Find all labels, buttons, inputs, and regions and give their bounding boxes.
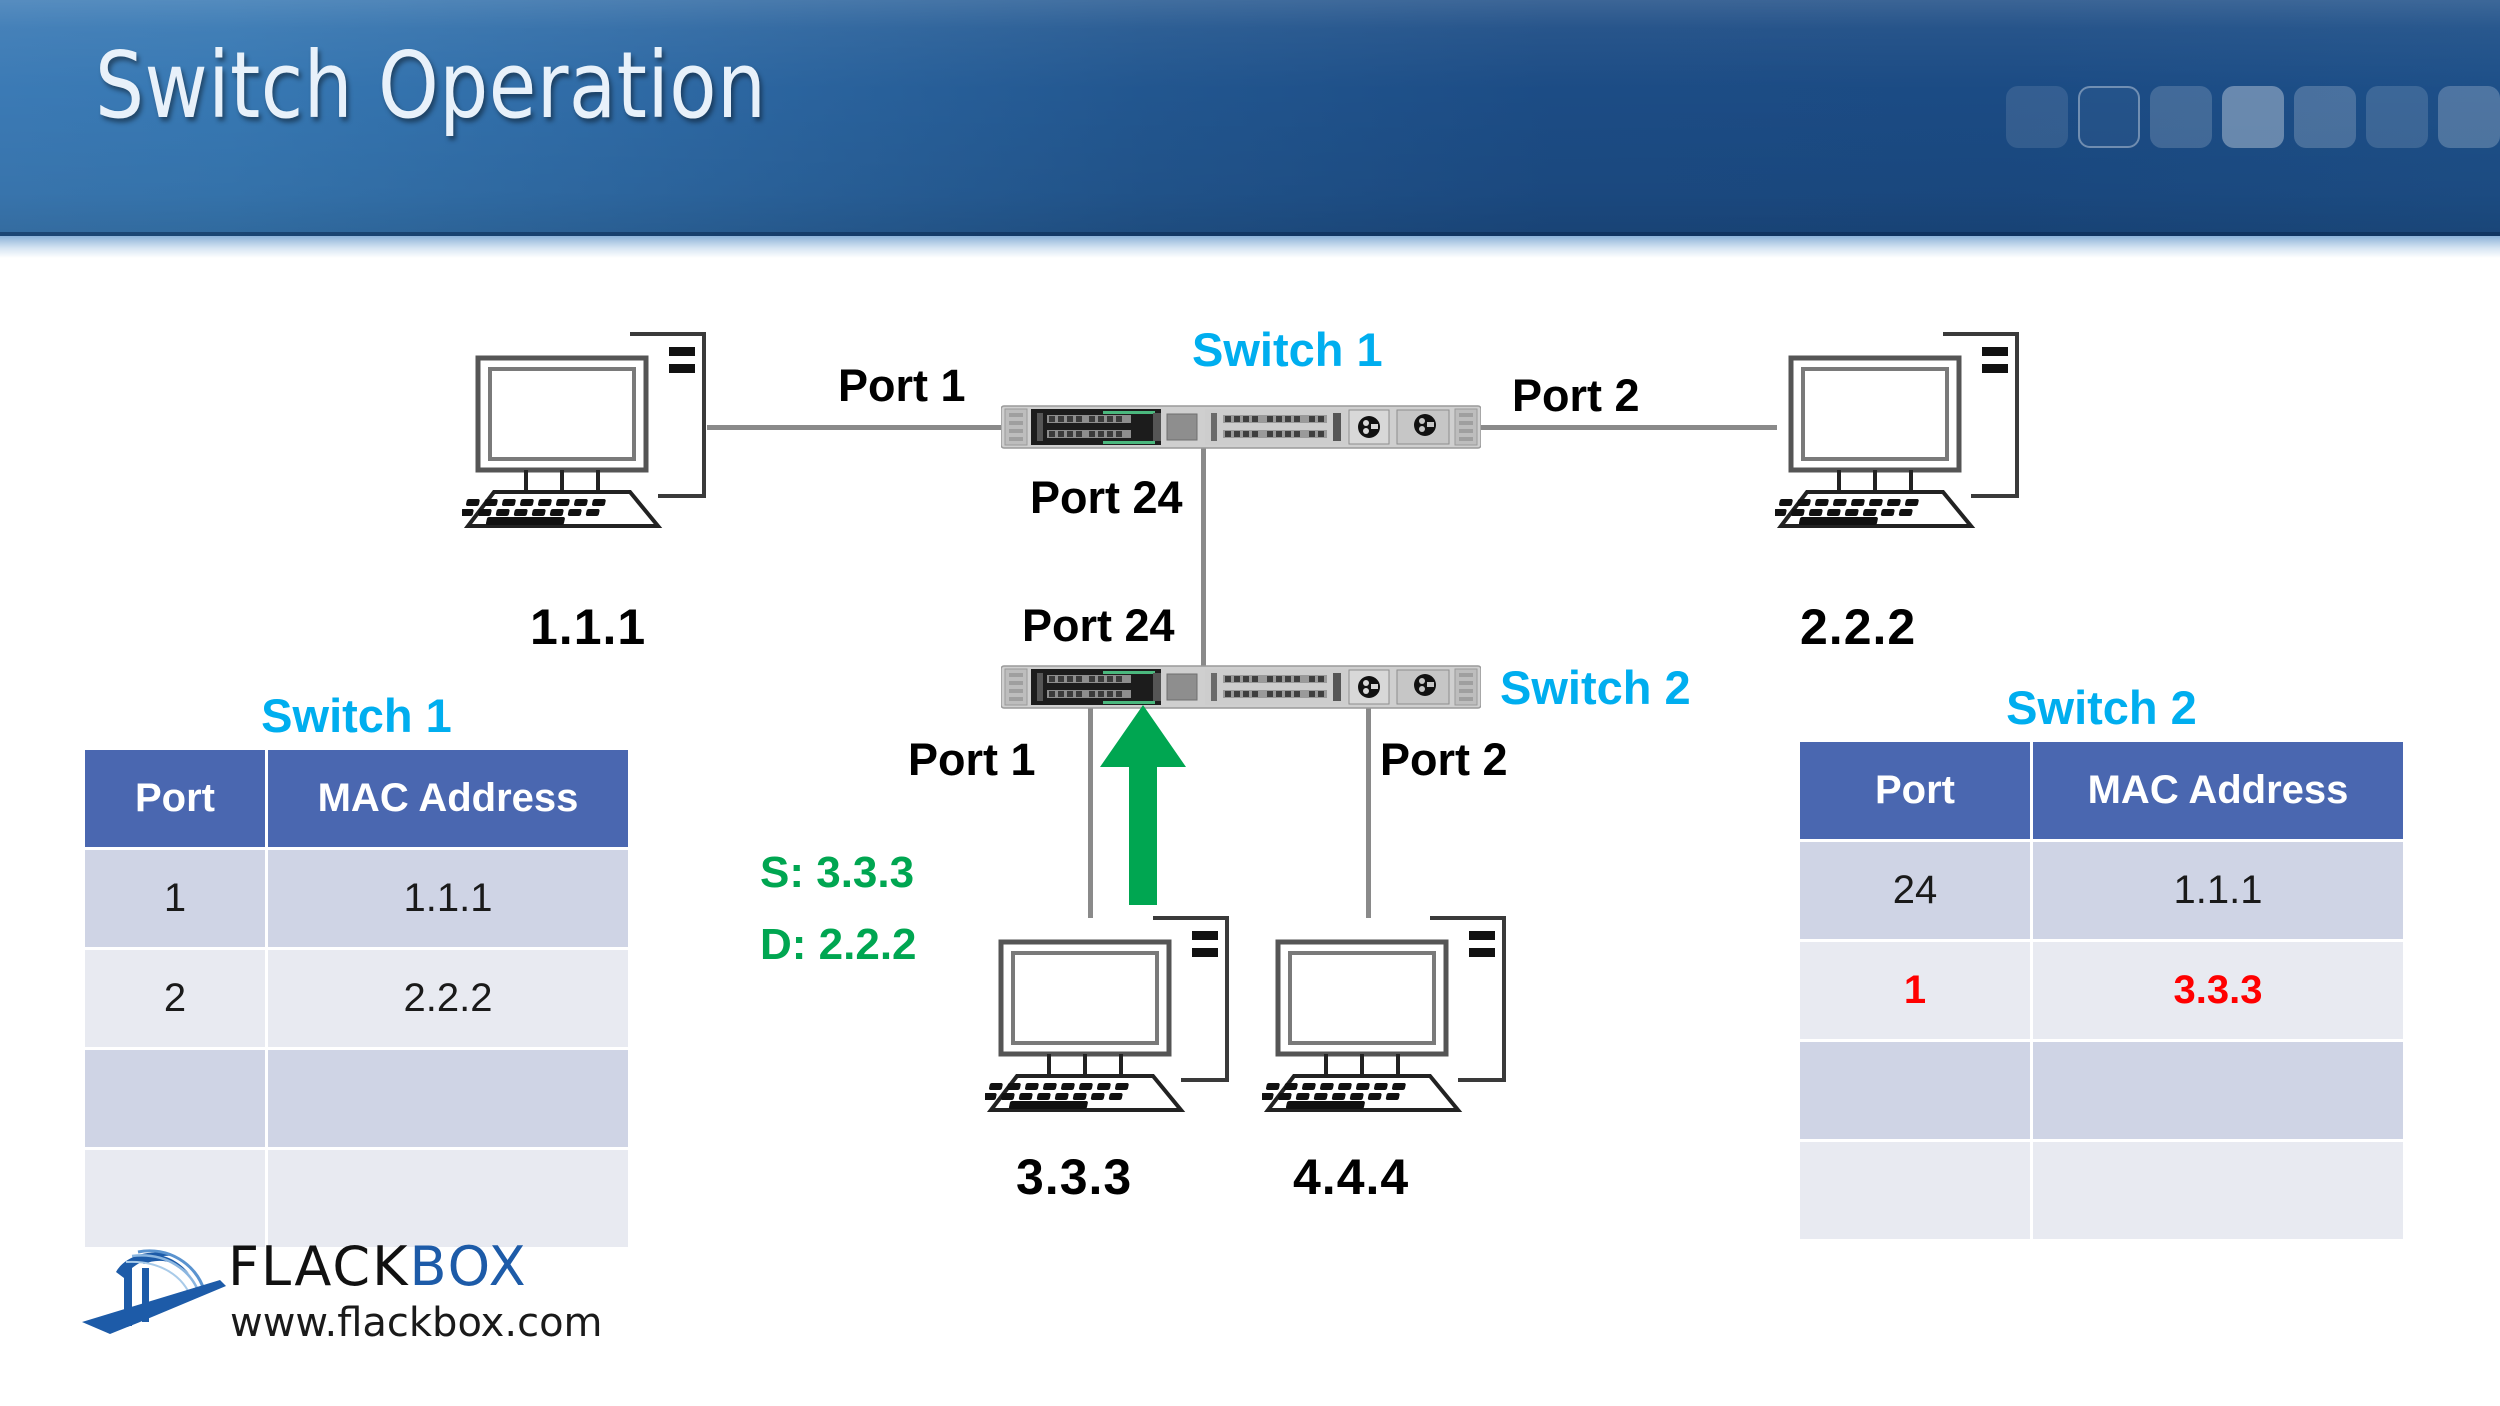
flackbox-bridge-icon bbox=[80, 1242, 240, 1338]
port-label-sw2-port1: Port 1 bbox=[908, 734, 1036, 786]
switch-label-1: Switch 1 bbox=[1192, 322, 1383, 377]
switch-device-2 bbox=[1001, 664, 1481, 710]
switch-2-mac-table: Switch 2 Port MAC Address 24 1.1.1 1 3.3… bbox=[1800, 742, 2403, 1239]
table-row-cell-port bbox=[85, 1150, 265, 1247]
host-label-333: 3.3.3 bbox=[1016, 1148, 1132, 1206]
switch-device-1 bbox=[1001, 404, 1481, 450]
host-pc-111 bbox=[462, 316, 727, 531]
column-header-mac: MAC Address bbox=[2033, 742, 2403, 839]
switch-1-mac-table: Switch 1 Port MAC Address 1 1.1.1 2 2.2.… bbox=[85, 750, 628, 1247]
frame-flow-arrow-up bbox=[1100, 705, 1186, 905]
table-row-cell-mac: 1.1.1 bbox=[2033, 842, 2403, 939]
link-switch1-host222 bbox=[1480, 425, 1777, 430]
host-label-111: 1.1.1 bbox=[530, 598, 646, 656]
switch-1-table-grid: Port MAC Address 1 1.1.1 2 2.2.2 bbox=[85, 750, 628, 1247]
switch-2-table-title: Switch 2 bbox=[1800, 680, 2403, 735]
host-label-222: 2.2.2 bbox=[1800, 598, 1916, 656]
table-row-cell-port bbox=[85, 1050, 265, 1147]
table-row-cell-port: 1 bbox=[1800, 942, 2030, 1039]
table-row-cell-port: 2 bbox=[85, 950, 265, 1047]
link-switch2-host444 bbox=[1366, 700, 1371, 918]
host-pc-222 bbox=[1775, 316, 2040, 531]
host-pc-444 bbox=[1262, 900, 1527, 1115]
port-label-sw2-port2: Port 2 bbox=[1380, 734, 1508, 786]
table-row-cell-mac bbox=[268, 1050, 628, 1147]
switch-2-table-grid: Port MAC Address 24 1.1.1 1 3.3.3 bbox=[1800, 742, 2403, 1239]
frame-destination-label: D: 2.2.2 bbox=[760, 912, 917, 978]
table-row-cell-mac: 1.1.1 bbox=[268, 850, 628, 947]
table-row-cell-port: 1 bbox=[85, 850, 265, 947]
table-row-cell-mac: 2.2.2 bbox=[268, 950, 628, 1047]
link-switch1-switch2 bbox=[1201, 440, 1206, 685]
port-label-sw1-port24: Port 24 bbox=[1030, 472, 1183, 524]
column-header-port: Port bbox=[85, 750, 265, 847]
port-label-sw1-port1: Port 1 bbox=[838, 360, 966, 412]
table-row-cell-port: 24 bbox=[1800, 842, 2030, 939]
table-row-cell-port bbox=[1800, 1042, 2030, 1139]
frame-source-label: S: 3.3.3 bbox=[760, 840, 914, 906]
logo-word-blue: BOX bbox=[410, 1235, 528, 1298]
host-label-444: 4.4.4 bbox=[1293, 1148, 1409, 1206]
switch-label-2: Switch 2 bbox=[1500, 660, 1691, 715]
column-header-mac: MAC Address bbox=[268, 750, 628, 847]
table-row-cell-mac bbox=[268, 1150, 628, 1247]
table-row-cell-mac bbox=[2033, 1042, 2403, 1139]
link-switch2-host333 bbox=[1088, 700, 1093, 918]
switch-1-table-title: Switch 1 bbox=[85, 688, 628, 743]
column-header-port: Port bbox=[1800, 742, 2030, 839]
link-host111-switch1 bbox=[707, 425, 1007, 430]
port-label-sw1-port2: Port 2 bbox=[1512, 370, 1640, 422]
flackbox-logo: FLACKBOX www.flackbox.com bbox=[80, 1238, 550, 1358]
flackbox-wordmark: FLACKBOX bbox=[228, 1238, 528, 1296]
port-label-sw2-port24: Port 24 bbox=[1022, 600, 1175, 652]
table-row-cell-mac bbox=[2033, 1142, 2403, 1239]
table-row-cell-port bbox=[1800, 1142, 2030, 1239]
table-row-cell-mac: 3.3.3 bbox=[2033, 942, 2403, 1039]
logo-word-dark: FLACK bbox=[228, 1235, 410, 1298]
logo-url-text: www.flackbox.com bbox=[230, 1300, 603, 1346]
host-pc-333 bbox=[985, 900, 1250, 1115]
